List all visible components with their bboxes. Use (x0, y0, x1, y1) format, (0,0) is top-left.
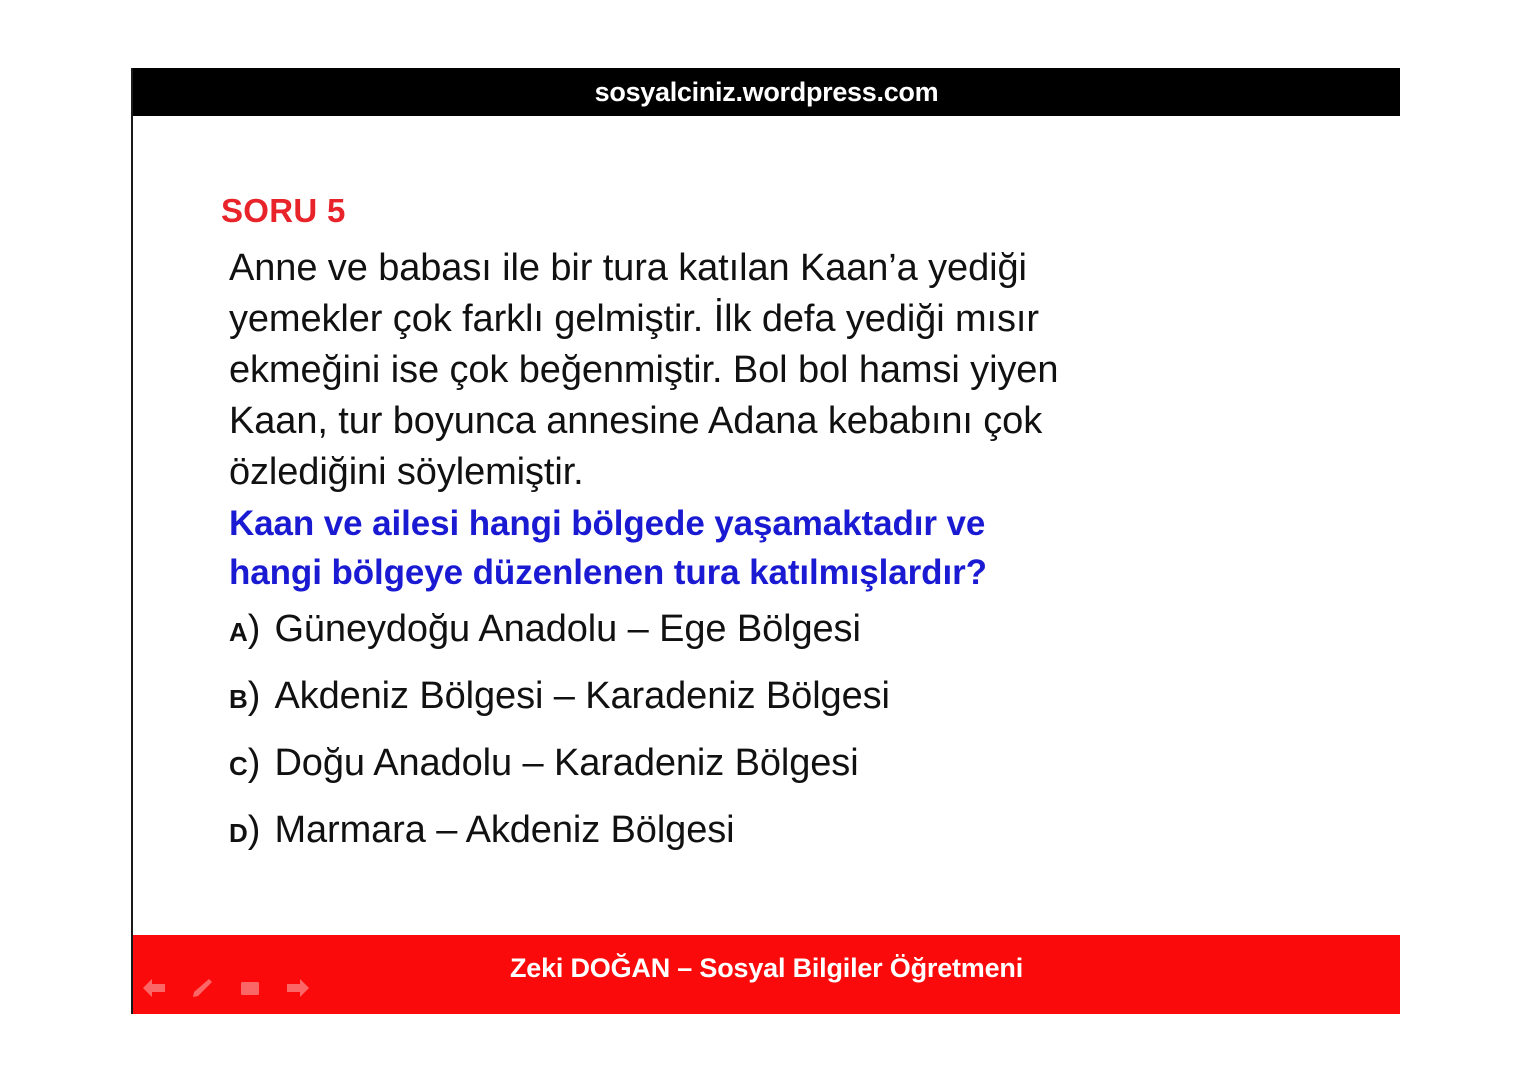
option-text: Güneydoğu Anadolu – Ege Bölgesi (274, 610, 860, 648)
question-stem: Anne ve babası ile bir tura katılan Kaan… (229, 243, 1199, 498)
site-url-label: sosyalciniz.wordpress.com (595, 77, 939, 108)
option-paren: ) (248, 610, 261, 648)
answer-option-a[interactable]: A ) Güneydoğu Anadolu – Ege Bölgesi (229, 610, 1279, 677)
pen-icon[interactable] (189, 977, 215, 999)
answer-options-list: A ) Güneydoğu Anadolu – Ege Bölgesi B ) … (229, 610, 1279, 878)
stem-line: özlediğini söylemiştir. (229, 447, 1199, 498)
slide-menu-icon[interactable] (237, 977, 263, 999)
slide-header-bar: sosyalciniz.wordpress.com (133, 68, 1400, 116)
option-letter: C (229, 753, 248, 779)
option-paren: ) (248, 744, 261, 782)
prompt-line: hangi bölgeye düzenlenen tura katılmışla… (229, 548, 1229, 597)
slide-footer-bar: Zeki DOĞAN – Sosyal Bilgiler Öğretmeni (133, 935, 1400, 1014)
stem-line: ekmeğini ise çok beğenmiştir. Bol bol ha… (229, 345, 1199, 396)
next-slide-arrow-icon[interactable] (285, 977, 311, 999)
option-letter: B (229, 686, 248, 712)
presentation-slide-screen: { "slide": { "header": { "site": "sosyal… (0, 0, 1527, 1080)
presentation-nav-toolbar[interactable] (141, 977, 311, 999)
option-letter: A (229, 619, 248, 645)
stem-line: Anne ve babası ile bir tura katılan Kaan… (229, 243, 1199, 294)
slide-body: SORU 5 Anne ve babası ile bir tura katıl… (133, 116, 1400, 935)
option-paren: ) (248, 811, 261, 849)
option-text: Akdeniz Bölgesi – Karadeniz Bölgesi (274, 677, 889, 715)
answer-option-b[interactable]: B ) Akdeniz Bölgesi – Karadeniz Bölgesi (229, 677, 1279, 744)
stem-line: yemekler çok farklı gelmiştir. İlk defa … (229, 294, 1199, 345)
answer-option-d[interactable]: D ) Marmara – Akdeniz Bölgesi (229, 811, 1279, 878)
author-credit-label: Zeki DOĞAN – Sosyal Bilgiler Öğretmeni (133, 953, 1400, 984)
slide-canvas: sosyalciniz.wordpress.com SORU 5 Anne ve… (131, 68, 1398, 1014)
option-letter: D (229, 820, 248, 846)
answer-option-c[interactable]: C ) Doğu Anadolu – Karadeniz Bölgesi (229, 744, 1279, 811)
option-paren: ) (248, 677, 261, 715)
stem-line: Kaan, tur boyunca annesine Adana kebabın… (229, 396, 1199, 447)
option-text: Marmara – Akdeniz Bölgesi (274, 811, 734, 849)
prompt-line: Kaan ve ailesi hangi bölgede yaşamaktadı… (229, 499, 1229, 548)
previous-slide-arrow-icon[interactable] (141, 977, 167, 999)
question-prompt: Kaan ve ailesi hangi bölgede yaşamaktadı… (229, 499, 1229, 597)
option-text: Doğu Anadolu – Karadeniz Bölgesi (274, 744, 858, 782)
question-number-label: SORU 5 (221, 192, 346, 230)
